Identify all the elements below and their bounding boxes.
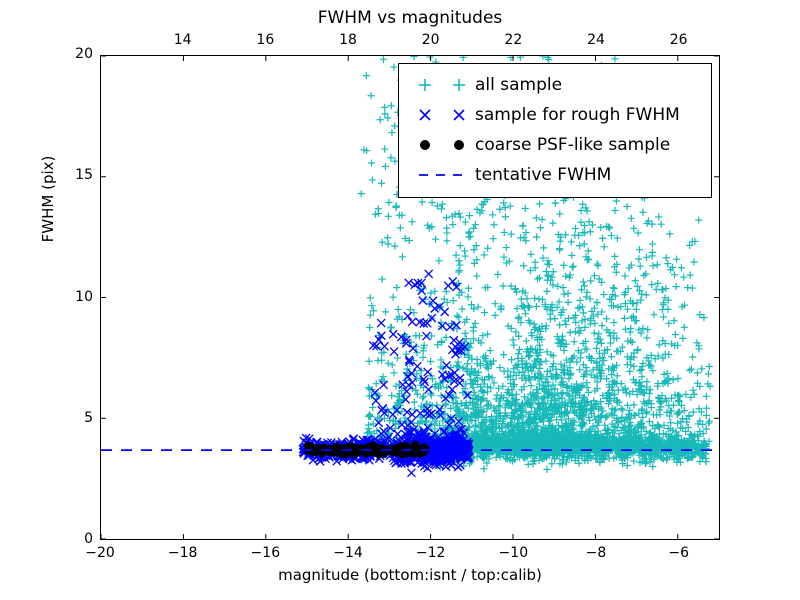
x-tick-label-bottom: −14 [333,545,363,561]
legend-label: coarse PSF-like sample [475,135,670,155]
x-tick-label-bottom: −10 [499,545,529,561]
x-tick-label-top: 24 [587,32,605,48]
cross-icon [409,104,475,126]
x-tick-label-top: 18 [339,32,357,48]
legend-label: all sample [475,75,562,95]
legend-item-tentative-fwhm[interactable]: tentative FWHM [409,160,701,190]
page-title: FWHM vs magnitudes [100,8,720,28]
plus-icon [409,74,475,96]
x-tick-label-bottom: −16 [251,545,281,561]
legend-label: sample for rough FWHM [475,105,680,125]
x-tick-label-bottom: −12 [416,545,446,561]
legend-label: tentative FWHM [475,165,611,185]
legend-item-coarse-psf[interactable]: coarse PSF-like sample [409,130,701,160]
legend-item-rough-fwhm[interactable]: sample for rough FWHM [409,100,701,130]
x-tick-label-top: 22 [504,32,522,48]
figure-canvas: FWHM vs magnitudes FWHM (pix) magnitude … [0,0,800,600]
x-tick-label-top: 26 [670,32,688,48]
x-tick-label-top: 20 [422,32,440,48]
x-tick-label-bottom: −8 [586,545,607,561]
legend-item-all-sample[interactable]: all sample [409,70,701,100]
dot-icon [409,134,475,156]
x-tick-label-top: 14 [174,32,192,48]
x-tick-label-bottom: −20 [85,545,115,561]
y-axis-label: FWHM (pix) [39,89,57,309]
x-tick-label-top: 16 [256,32,274,48]
x-tick-label-bottom: −18 [168,545,198,561]
dashed-line-icon [409,164,475,186]
legend-box[interactable]: all sample sample for rough FWHM c [398,63,712,198]
x-axis-label: magnitude (bottom:isnt / top:calib) [100,566,720,584]
x-tick-label-bottom: −6 [668,545,689,561]
